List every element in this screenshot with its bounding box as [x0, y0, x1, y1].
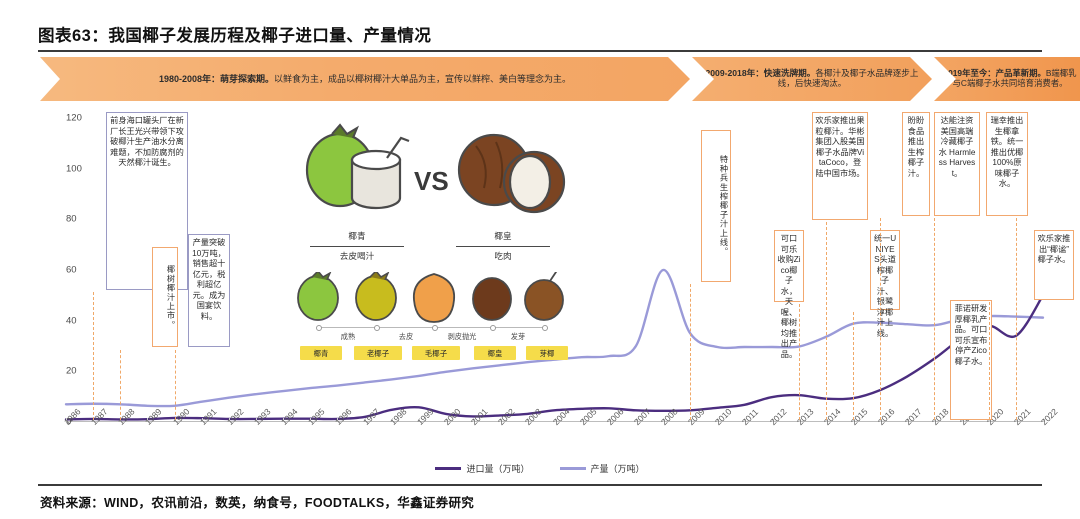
stage-pill-3: 椰皇: [474, 346, 516, 360]
stage-dot: [374, 325, 380, 331]
annotation-note-2020: 欢乐家推出“椰谧”椰子水。: [1034, 230, 1074, 300]
annotation-guide-line: [175, 350, 176, 420]
annotation-guide-line: [826, 222, 827, 420]
annotation-note-2009: 特种兵生榨椰子汁上线。: [701, 130, 731, 282]
annotation-guide-line: [989, 302, 990, 420]
stage-dot: [542, 325, 548, 331]
annotation-note-1988: 椰树椰汁上市。: [152, 247, 178, 347]
figure-page: 图表63：我国椰子发展历程及椰子进口量、产量情况 1980-2008年：萌芽探索…: [0, 0, 1080, 519]
source-note: 资料来源：WIND，农讯前沿，数英，纳食号，FOODTALKS，华鑫证券研究: [40, 492, 474, 511]
annotation-note-2013: 可口可乐收购Zico椰子水，天喔、椰树均推出产品。: [774, 230, 804, 302]
stage-coconuts-icons: [292, 272, 564, 324]
left-coconut-name: 椰青: [314, 230, 400, 242]
annotation-note-2016: 盼盼食品推出生榨椰子汁。: [902, 112, 930, 216]
stage-dot: [432, 325, 438, 331]
annotation-note-2014: 欢乐家推出果粒椰汁。华彬集团入股美国椰子水品牌VitaCoco，登陆中国市场。: [812, 112, 868, 220]
annotation-note-2018: 达能注资美国高端冷藏椰子水 Harmless Harvest。: [934, 112, 980, 216]
right-coconut-use: 吃肉: [456, 250, 550, 262]
timeline-phase-2: 2009-2018年：快速洗牌期。各椰汁及椰子水品牌逐步上线，后快速淘汰。: [692, 57, 932, 101]
legend-label-output: 产量（万吨）: [591, 462, 645, 475]
annotation-guide-line: [853, 312, 854, 420]
annotation-note-2021: 瑞幸推出生椰拿铁。统一推出优椰100%原味椰子水。: [986, 112, 1028, 216]
coconut-illustration: VS 椰青 去皮喝汁 椰皇 吃肉: [292, 118, 564, 328]
stage-transition-1: 去皮: [384, 332, 428, 342]
legend-swatch-import: [435, 467, 461, 470]
right-caption-rule: [456, 246, 550, 247]
stage-pill-4: 芽椰: [526, 346, 568, 360]
page-title: 图表63：我国椰子发展历程及椰子进口量、产量情况: [38, 22, 1048, 46]
annotation-guide-line: [93, 292, 94, 420]
vs-label: VS: [414, 166, 449, 197]
annotation-guide-line: [934, 218, 935, 420]
left-coconut-use: 去皮喝汁: [310, 250, 404, 262]
timeline-phase-1-period: 1980-2008年：萌芽探索期。: [159, 74, 274, 84]
brown-coconut-icon: [450, 122, 570, 232]
stage-transition-0: 成熟: [326, 332, 370, 342]
annotation-note-1990: 产量突破10万吨，销售超十亿元，税利超亿元。成为国宴饮料。: [188, 234, 230, 347]
annotation-note-2015: 统一UNIYES头道榨椰子汁、银鹭淳椰汁上线。: [870, 230, 900, 310]
timeline-banner: 1980-2008年：萌芽探索期。以鲜食为主，成品以椰树椰汁大单品为主，宣传以鲜…: [40, 57, 1046, 101]
annotation-guide-line: [880, 218, 881, 420]
left-caption-rule: [310, 246, 404, 247]
legend-item-import: 进口量（万吨）: [435, 462, 529, 475]
stage-axis-line: [318, 327, 544, 328]
timeline-phase-1: 1980-2008年：萌芽探索期。以鲜食为主，成品以椰树椰汁大单品为主，宣传以鲜…: [40, 57, 690, 101]
stage-transition-3: 发芽: [496, 332, 540, 342]
legend-label-import: 进口量（万吨）: [466, 462, 529, 475]
stage-dot: [316, 325, 322, 331]
annotation-guide-line: [690, 284, 691, 420]
annotation-guide-line: [120, 350, 121, 420]
annotation-guide-line: [1016, 218, 1017, 420]
legend-swatch-output: [560, 467, 586, 470]
stage-dot: [490, 325, 496, 331]
stage-pill-0: 椰青: [300, 346, 342, 360]
right-coconut-name: 椰皇: [460, 230, 546, 242]
stage-pill-2: 毛椰子: [412, 346, 460, 360]
annotation-note-2019: 菲诺研发厚椰乳产品。可口可乐宣布停产Zico椰子水。: [950, 300, 992, 420]
title-divider: [38, 50, 1042, 52]
stage-transition-2: 剥皮抛光: [436, 332, 488, 342]
timeline-phase-2-period: 2009-2018年：快速洗牌期。: [706, 68, 816, 78]
timeline-phase-1-desc: 以鲜食为主，成品以椰树椰汁大单品为主，宣传以鲜榨、美白等理念为主。: [274, 74, 571, 84]
figure-title-wrap: 图表63：我国椰子发展历程及椰子进口量、产量情况: [38, 22, 1048, 46]
chart-legend: 进口量（万吨） 产量（万吨）: [0, 462, 1080, 475]
annotation-guide-line: [799, 304, 800, 420]
timeline-phase-3-period: 2019年至今：产品革新期。: [943, 68, 1045, 78]
source-divider: [38, 484, 1042, 486]
timeline-phase-3: 2019年至今：产品革新期。B端椰乳与C端椰子水共同培育消费者。: [934, 57, 1080, 101]
legend-item-output: 产量（万吨）: [560, 462, 645, 475]
stage-pill-1: 老椰子: [354, 346, 402, 360]
